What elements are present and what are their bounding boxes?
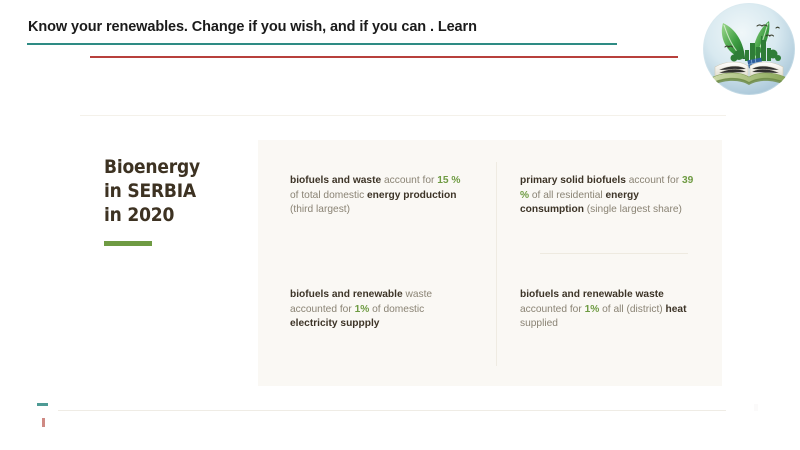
stat-cell-energy-production: biofuels and waste account for 15 % of t…: [290, 174, 470, 218]
slide-heading-line-1: Bioenergy: [104, 155, 244, 179]
open-book-green-city-logo: [703, 3, 795, 95]
stat-text: biofuels and waste account for 15 % of t…: [290, 174, 470, 218]
panel-column-divider: [496, 162, 497, 366]
header-rule-teal: [27, 43, 617, 45]
page-title: Know your renewables. Change if you wish…: [28, 18, 648, 36]
stat-text: biofuels and renewable waste accounted f…: [520, 288, 700, 332]
footer-mark-faint: [754, 404, 758, 411]
stat-cell-heat-supplied: biofuels and renewable waste accounted f…: [520, 288, 700, 332]
statistics-panel: biofuels and waste account for 15 % of t…: [258, 140, 722, 386]
slide-heading-line-2: in SERBIA: [104, 179, 244, 203]
bottom-separator-rule: [58, 410, 726, 411]
footer-mark-teal: [37, 403, 48, 406]
panel-row-divider: [540, 253, 688, 254]
slide-heading-line-3: in 2020: [104, 203, 244, 227]
slide-heading: Bioenergy in SERBIA in 2020: [104, 155, 244, 227]
footer-mark-red: [42, 418, 45, 427]
stat-text: biofuels and renewable waste accounted f…: [290, 288, 470, 332]
stat-text: primary solid biofuels account for 39 % …: [520, 174, 700, 218]
stat-cell-electricity-supply: biofuels and renewable waste accounted f…: [290, 288, 470, 332]
slide-heading-accent-bar: [104, 241, 152, 246]
slide-canvas: Know your renewables. Change if you wish…: [0, 0, 800, 450]
header-rule-red: [90, 56, 678, 58]
top-separator-rule: [80, 115, 726, 116]
stat-cell-energy-consumption: primary solid biofuels account for 39 % …: [520, 174, 700, 218]
